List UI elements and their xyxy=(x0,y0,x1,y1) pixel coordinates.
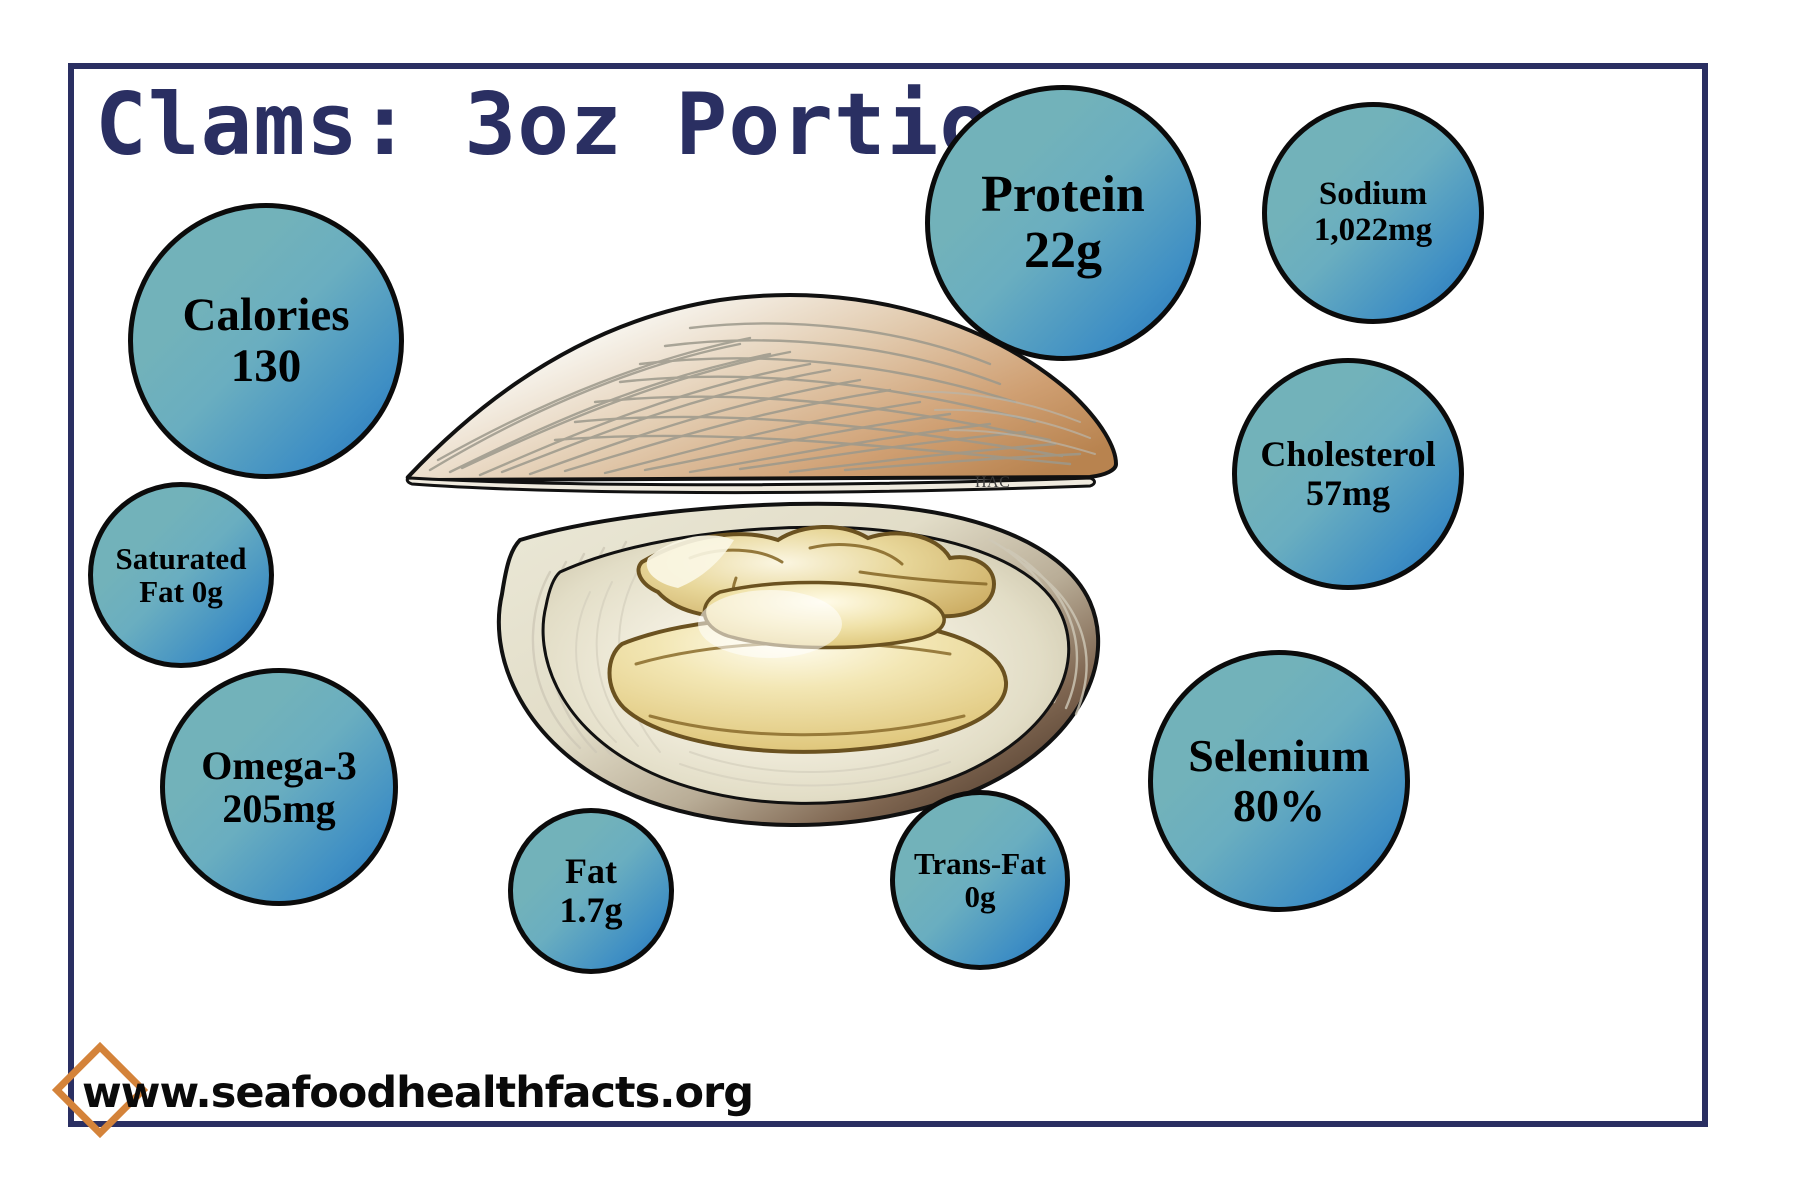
page-title: Clams: 3oz Portion xyxy=(95,82,1045,168)
nutrient-label-sodium: Sodium xyxy=(1319,177,1427,213)
website-url[interactable]: www.seafoodhealthfacts.org xyxy=(82,1068,753,1118)
open-clam-illustration xyxy=(390,272,1120,832)
nutrient-bubble-selenium: Selenium 80% xyxy=(1148,650,1410,912)
nutrient-value-calories: 130 xyxy=(231,341,302,392)
nutrient-value-omega-3: 205mg xyxy=(222,787,335,830)
nutrient-bubble-calories: Calories 130 xyxy=(128,203,404,479)
nutrient-value-protein: 22g xyxy=(1024,223,1102,279)
nutrient-value-cholesterol: 57mg xyxy=(1306,474,1390,513)
nutrient-label-fat: Fat xyxy=(565,852,617,891)
nutrient-bubble-protein: Protein 22g xyxy=(925,85,1201,361)
nutrient-label-cholesterol: Cholesterol xyxy=(1260,435,1435,474)
nutrient-value-trans-fat: 0g xyxy=(965,880,996,913)
nutrient-value-saturated-fat: Fat 0g xyxy=(139,575,223,608)
nutrient-label-protein: Protein xyxy=(981,167,1145,223)
nutrient-value-fat: 1.7g xyxy=(560,891,623,930)
nutrient-label-trans-fat: Trans-Fat xyxy=(914,847,1046,880)
nutrient-bubble-omega-3: Omega-3 205mg xyxy=(160,668,398,906)
nutrient-bubble-cholesterol: Cholesterol 57mg xyxy=(1232,358,1464,590)
nutrient-value-sodium: 1,022mg xyxy=(1314,213,1432,249)
nutrient-label-omega-3: Omega-3 xyxy=(201,744,357,787)
nutrient-label-saturated-fat: Saturated xyxy=(116,542,247,575)
nutrient-label-selenium: Selenium xyxy=(1188,731,1369,781)
artist-signature: HAC xyxy=(975,474,1010,492)
nutrient-bubble-saturated-fat: Saturated Fat 0g xyxy=(88,482,274,668)
nutrient-bubble-fat: Fat 1.7g xyxy=(508,808,674,974)
nutrient-bubble-trans-fat: Trans-Fat 0g xyxy=(890,790,1070,970)
clam-bottom-shell xyxy=(499,504,1098,825)
nutrient-bubble-sodium: Sodium 1,022mg xyxy=(1262,102,1484,324)
nutrient-value-selenium: 80% xyxy=(1233,781,1325,831)
nutrient-label-calories: Calories xyxy=(182,290,349,341)
infographic-poster: Clams: 3oz Portion xyxy=(0,0,1800,1200)
